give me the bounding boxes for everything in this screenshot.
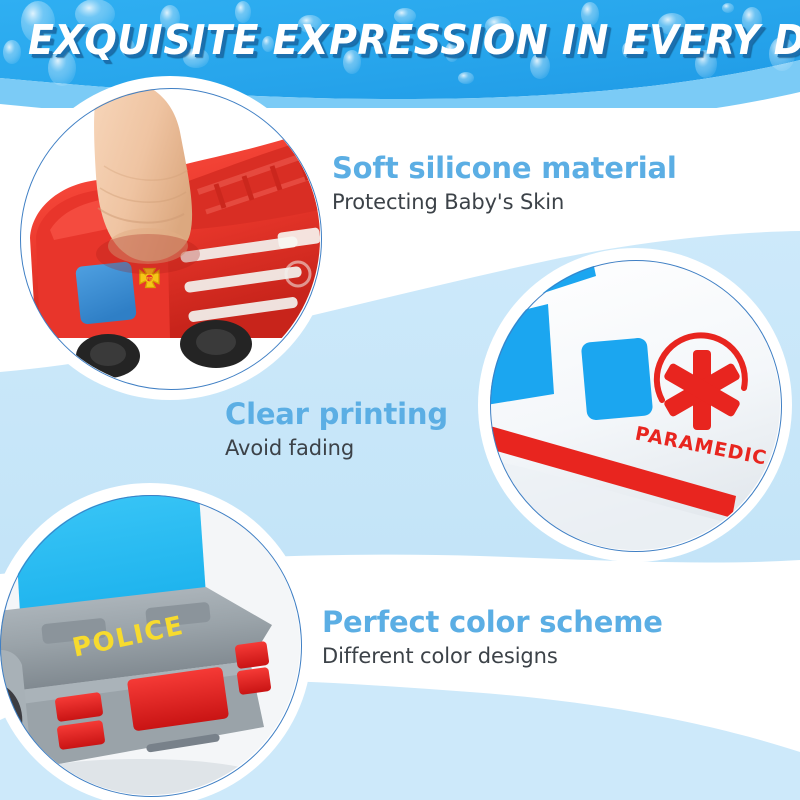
ambulance-window-square [581,337,654,420]
feature-3-subtitle: Different color designs [322,644,663,668]
feature-2-subtitle: Avoid fading [225,436,448,460]
feature-2-title: Clear printing [225,398,448,431]
svg-text:FD: FD [146,276,153,282]
feature-block-2: Clear printing Avoid fading [225,398,448,460]
product-feature-infographic: EXQUISITE EXPRESSION IN EVERY DETAIL [0,0,800,800]
feature-block-3: Perfect color scheme Different color des… [322,606,663,668]
fire-truck-photo: FD [20,88,320,388]
taillight-right-lower [236,667,271,695]
page-title: EXQUISITE EXPRESSION IN EVERY DETAIL [28,16,772,64]
feature-1-title: Soft silicone material [332,152,677,185]
feature-3-title: Perfect color scheme [322,606,663,639]
feature-block-1: Soft silicone material Protecting Baby's… [332,152,677,214]
taillight-right-upper [234,641,269,669]
police-car-photo: POLICE [0,495,300,795]
ambulance-photo: PARAMEDIC [490,260,780,550]
feature-1-subtitle: Protecting Baby's Skin [332,190,677,214]
